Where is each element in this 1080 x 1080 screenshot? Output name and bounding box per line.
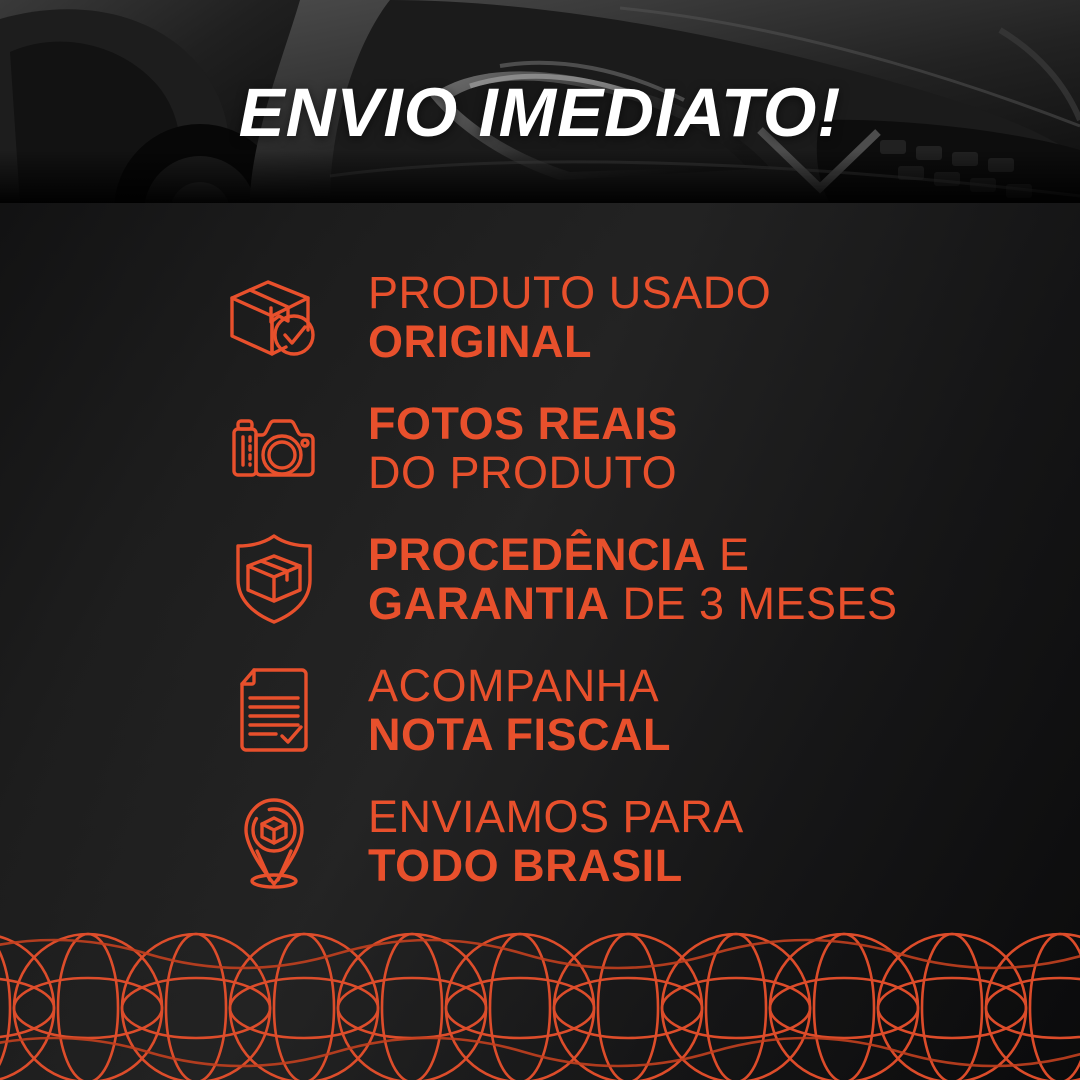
feature-row: ACOMPANHA NOTA FISCAL <box>0 644 1080 775</box>
feature-line-2: GARANTIA DE 3 MESES <box>368 579 898 628</box>
feature-text: ENVIAMOS PARA TODO BRASIL <box>368 792 744 890</box>
feature-text: PROCEDÊNCIA E GARANTIA DE 3 MESES <box>368 530 898 628</box>
feature-line-2: ORIGINAL <box>368 317 771 366</box>
feature-line-2: TODO BRASIL <box>368 841 744 890</box>
banner-title: ENVIO IMEDIATO! <box>0 0 1080 203</box>
shield-box-icon <box>222 532 326 626</box>
feature-line-1-light: E <box>706 529 750 580</box>
feature-row: ENVIAMOS PARA TODO BRASIL <box>0 775 1080 906</box>
map-pin-box-icon <box>222 792 326 890</box>
feature-line-1: ENVIAMOS PARA <box>368 792 744 841</box>
feature-row: FOTOS REAIS DO PRODUTO <box>0 382 1080 513</box>
feature-line-1-bold: PROCEDÊNCIA <box>368 529 706 580</box>
feature-row: PROCEDÊNCIA E GARANTIA DE 3 MESES <box>0 513 1080 644</box>
promo-card: ENVIO IMEDIATO! PRODUTO USADO ORIGINAL <box>0 0 1080 1080</box>
feature-line-1: FOTOS REAIS <box>368 399 678 448</box>
feature-line-2: NOTA FISCAL <box>368 710 671 759</box>
camera-icon <box>222 403 326 493</box>
feature-text: PRODUTO USADO ORIGINAL <box>368 268 771 366</box>
feature-line-1: PROCEDÊNCIA E <box>368 530 898 579</box>
box-check-icon <box>222 272 326 362</box>
feature-text: ACOMPANHA NOTA FISCAL <box>368 661 671 759</box>
feature-row: PRODUTO USADO ORIGINAL <box>0 251 1080 382</box>
features-list: PRODUTO USADO ORIGINAL FOTOS REAIS <box>0 203 1080 933</box>
ornament-border <box>0 920 1080 1080</box>
invoice-check-icon <box>222 664 326 756</box>
feature-line-2: DO PRODUTO <box>368 448 678 497</box>
feature-text: FOTOS REAIS DO PRODUTO <box>368 399 678 497</box>
feature-line-1: PRODUTO USADO <box>368 268 771 317</box>
banner: ENVIO IMEDIATO! <box>0 0 1080 203</box>
feature-line-1: ACOMPANHA <box>368 661 671 710</box>
feature-line-2-bold: GARANTIA <box>368 578 609 629</box>
feature-line-2-light: DE 3 MESES <box>609 578 897 629</box>
